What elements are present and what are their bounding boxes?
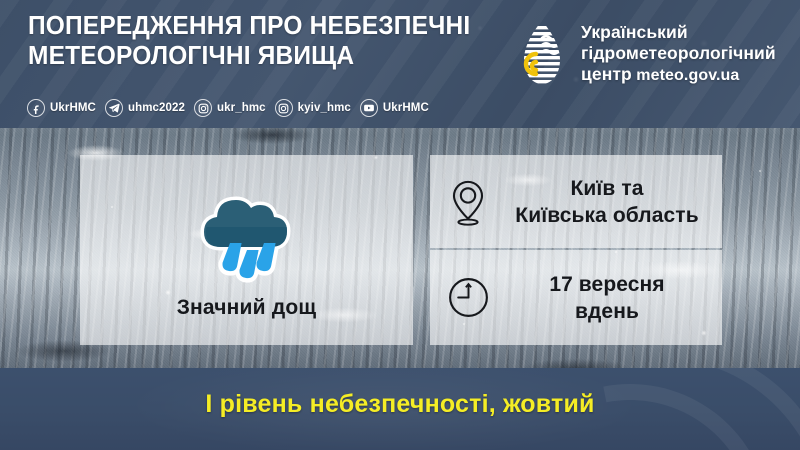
- brand-text-block: Український гідрометеорологічний центр m…: [581, 18, 776, 85]
- social-link-telegram[interactable]: uhmc2022: [105, 99, 185, 117]
- date-label: 17 вересня вдень: [506, 271, 722, 325]
- telegram-icon: [105, 99, 123, 117]
- hydrometeorological-center-droplet-logo: [512, 18, 568, 90]
- rain-cloud-icon: [188, 180, 306, 284]
- hazard-panel: Значний дощ: [80, 155, 413, 345]
- clock-icon: [430, 276, 506, 319]
- map-pin-icon: [430, 178, 506, 226]
- brand-block: Український гідрометеорологічний центр m…: [512, 18, 776, 90]
- region-label: Київ та Київська область: [506, 175, 722, 229]
- region-panel: Київ та Київська область: [430, 155, 722, 248]
- social-handle-telegram: uhmc2022: [128, 102, 185, 114]
- hazard-label: Значний дощ: [177, 296, 317, 320]
- page-title: ПОПЕРЕДЖЕННЯ ПРО НЕБЕЗПЕЧНІ МЕТЕОРОЛОГІЧ…: [28, 11, 479, 71]
- social-link-facebook[interactable]: UkrHMC: [27, 99, 96, 117]
- social-link-youtube[interactable]: UkrHMC: [360, 99, 429, 117]
- header-band: ПОПЕРЕДЖЕННЯ ПРО НЕБЕЗПЕЧНІ МЕТЕОРОЛОГІЧ…: [0, 0, 800, 128]
- social-link-instagram-ukr[interactable]: ukr_hmc: [194, 99, 266, 117]
- date-panel: 17 вересня вдень: [430, 250, 722, 345]
- facebook-icon: [27, 99, 45, 117]
- social-handle-youtube: UkrHMC: [383, 102, 429, 114]
- social-links-row: UkrHMC uhmc2022 ukr_hm: [27, 99, 429, 117]
- instagram-icon: [275, 99, 293, 117]
- youtube-icon: [360, 99, 378, 117]
- footer-band: І рівень небезпечності, жовтий: [0, 368, 800, 450]
- brand-website: meteo.gov.ua: [636, 67, 739, 84]
- social-handle-facebook: UkrHMC: [50, 102, 96, 114]
- instagram-icon: [194, 99, 212, 117]
- weather-warning-poster: ПОПЕРЕДЖЕННЯ ПРО НЕБЕЗПЕЧНІ МЕТЕОРОЛОГІЧ…: [0, 0, 800, 450]
- social-link-instagram-kyiv[interactable]: kyiv_hmc: [275, 99, 351, 117]
- warning-level-text: І рівень небезпечності, жовтий: [0, 390, 800, 419]
- social-handle-instagram-kyiv: kyiv_hmc: [298, 102, 351, 114]
- social-handle-instagram-ukr: ukr_hmc: [217, 102, 266, 114]
